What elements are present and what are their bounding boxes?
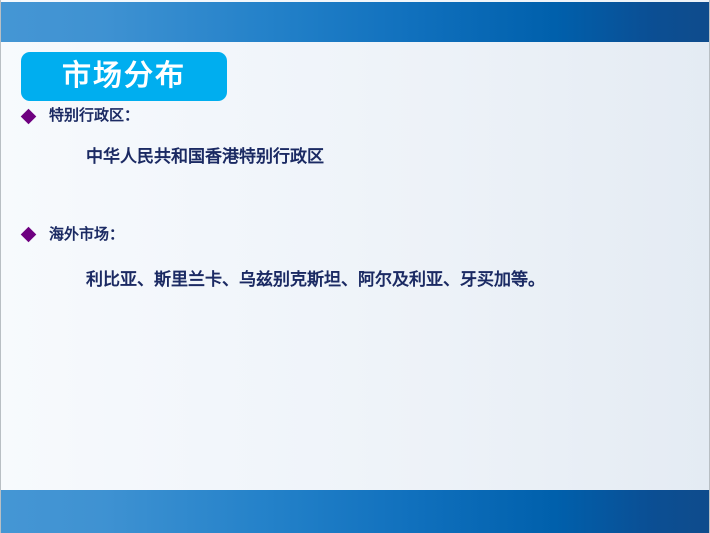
bullet-item-overseas-market: 海外市场：	[1, 227, 710, 244]
bullet-detail-wrapper-overseas-market: 利比亚、斯里兰卡、乌兹别克斯坦、阿尔及利亚、牙买加等。	[1, 271, 710, 290]
diamond-bullet-icon	[21, 227, 37, 243]
presentation-slide: 市场分布 特别行政区： 中华人民共和国香港特别行政区 海外市场： 利比亚、斯里兰…	[0, 0, 710, 533]
bullet-group-overseas-market: 海外市场： 利比亚、斯里兰卡、乌兹别克斯坦、阿尔及利亚、牙买加等。	[1, 227, 710, 291]
bullet-detail-special-administrative-region: 中华人民共和国香港特别行政区	[86, 147, 324, 166]
bullet-label-special-administrative-region: 特别行政区：	[49, 108, 139, 125]
slide-title-plate: 市场分布	[21, 52, 227, 101]
bullet-group-special-administrative-region: 特别行政区： 中华人民共和国香港特别行政区	[1, 108, 710, 167]
bullet-detail-wrapper-special-administrative-region: 中华人民共和国香港特别行政区	[1, 148, 710, 167]
slide-content: 特别行政区： 中华人民共和国香港特别行政区 海外市场： 利比亚、斯里兰卡、乌兹别…	[1, 108, 710, 290]
diamond-bullet-icon	[21, 108, 37, 124]
top-decorative-band	[1, 2, 710, 42]
bullet-label-overseas-market: 海外市场：	[49, 227, 124, 244]
bullet-item-special-administrative-region: 特别行政区：	[1, 108, 710, 125]
bullet-detail-overseas-market: 利比亚、斯里兰卡、乌兹别克斯坦、阿尔及利亚、牙买加等。	[86, 270, 545, 289]
page-title: 市场分布	[62, 62, 186, 91]
bottom-decorative-band	[1, 490, 710, 533]
